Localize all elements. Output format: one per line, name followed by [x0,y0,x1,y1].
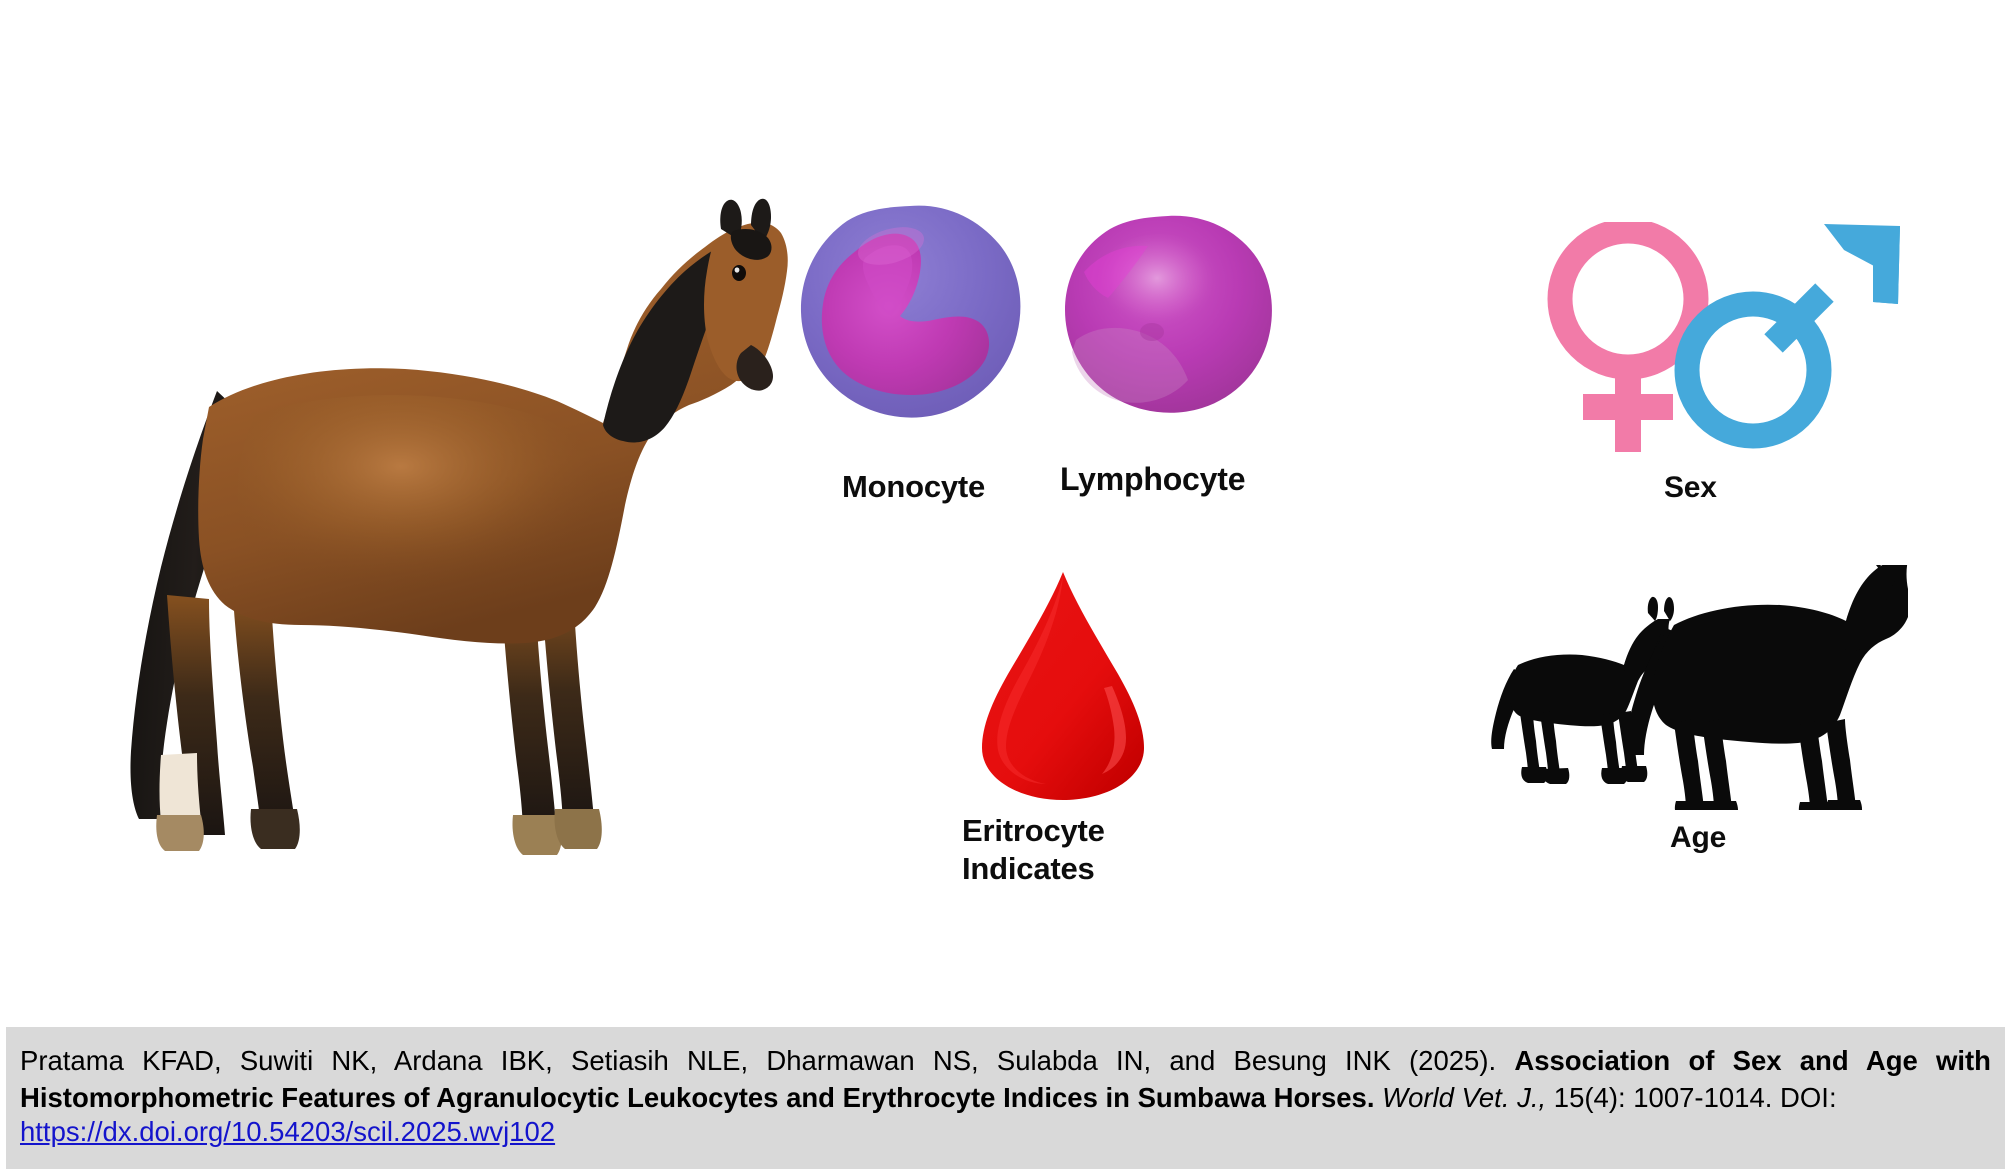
lymphocyte-cell-illustration [1060,212,1275,417]
age-silhouettes-group [1478,565,1908,810]
citation-doi-line: https://dx.doi.org/10.54203/scil.2025.wv… [20,1116,1991,1148]
eritrocyte-indicates-label: Eritrocyte Indicates [962,812,1105,888]
citation-text: Pratama KFAD, Suwiti NK, Ardana IBK, Set… [20,1043,1991,1116]
citation-volume-pages: 15(4): 1007-1014. DOI: [1546,1082,1836,1113]
lymphocyte-label: Lymphocyte [1060,460,1245,499]
monocyte-label: Monocyte [842,468,985,506]
monocyte-cell-illustration [795,200,1025,420]
blood-drop-icon [968,570,1158,802]
citation-authors: Pratama KFAD, Suwiti NK, Ardana IBK, Set… [20,1045,1514,1076]
bay-horse-photo [105,195,805,860]
graphical-abstract-canvas: Monocyte Lymphocyte [0,0,2011,1027]
citation-bar: Pratama KFAD, Suwiti NK, Ardana IBK, Set… [6,1027,2005,1169]
male-mars-symbol [1687,224,1900,436]
sex-label: Sex [1664,470,1717,507]
female-venus-symbol [1560,231,1696,452]
sex-symbols-group [1528,222,1948,462]
age-label: Age [1670,820,1726,857]
citation-journal: World Vet. J., [1382,1082,1546,1113]
white-sock [160,753,202,821]
doi-link[interactable]: https://dx.doi.org/10.54203/scil.2025.wv… [20,1116,555,1147]
